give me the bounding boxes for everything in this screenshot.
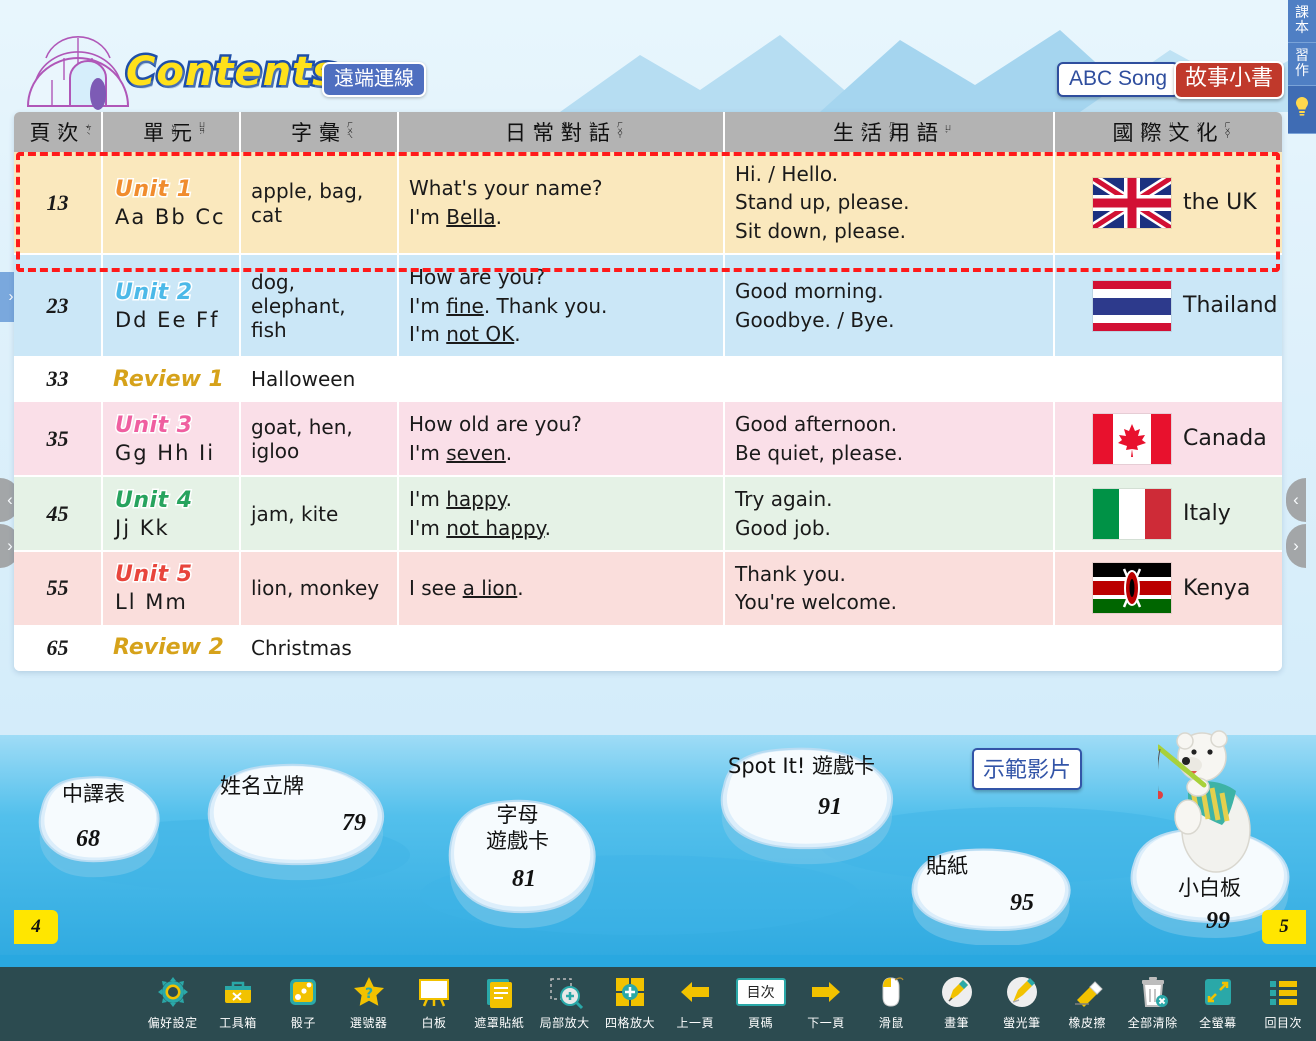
ice-floe-stickers[interactable]: 貼紙95 (900, 840, 1085, 945)
gear-icon[interactable] (140, 972, 205, 1012)
toolbar-item-trash-clear[interactable]: 全部清除 (1120, 967, 1185, 1031)
table-row[interactable]: 45Unit 4Jj Kkjam, kiteI'm happy.I'm not … (14, 476, 1282, 551)
toolbar-item-label: 螢光筆 (989, 1014, 1054, 1031)
row-page-number: 23 (14, 254, 102, 357)
toolbar-item-mouse[interactable]: 滑鼠 (859, 967, 924, 1031)
table-row[interactable]: 65Review 2Christmas (14, 626, 1282, 670)
toolbar-item-pen[interactable]: 畫筆 (924, 967, 989, 1031)
header-char: 常ㄔ ㄤ ´ (533, 117, 561, 147)
toolbar-item-eraser[interactable]: 橡皮擦 (1055, 967, 1120, 1031)
row-dialogue: I'm happy.I'm not happy. (398, 476, 724, 551)
pen-icon[interactable] (924, 972, 989, 1012)
header-char: 對ㄉ ㄨ ㄟ (561, 117, 589, 147)
toolbar-item-label: 偏好設定 (140, 1014, 205, 1031)
row-vocabulary: jam, kite (240, 476, 398, 551)
bopomofo-annotation: ㄩ ˅ (945, 126, 951, 137)
ice-floe-alphabet-game-card[interactable]: 字母遊戲卡81 (428, 790, 618, 935)
toolbar-item-gear[interactable]: 偏好設定 (140, 967, 205, 1031)
row-life-language: Good afternoon.Be quiet, please. (724, 401, 1054, 476)
row-review-topic: Christmas (240, 626, 1282, 670)
header-char: 日ㄖ 丶 (505, 117, 533, 147)
toolbar-item-label: 滑鼠 (859, 1014, 924, 1031)
header-char: 活ㄏ ㄨ ㄛ (861, 117, 889, 147)
row-vocabulary: lion, monkey (240, 551, 398, 626)
row-page-number: 45 (14, 476, 102, 551)
toolbar-item-highlighter[interactable]: 螢光筆 (989, 967, 1054, 1031)
row-dialogue: I see a lion. (398, 551, 724, 626)
toolbar-item-label: 骰子 (271, 1014, 336, 1031)
toolbar-item-list-contents[interactable]: 回目次 (1251, 967, 1316, 1031)
table-header-3: 字ㄗ 丶彙ㄏ ㄨ ㄟ (240, 112, 398, 152)
floe-page-number: 79 (342, 810, 366, 837)
table-row[interactable]: 13Unit 1Aa Bb Ccapple, bag, catWhat's yo… (14, 152, 1282, 254)
sidebar-item-workbook[interactable]: 習作 (1288, 43, 1316, 86)
toolbar-item-label: 白板 (401, 1014, 466, 1031)
row-page-number: 55 (14, 551, 102, 626)
header-char: 化ㄏ ㄨ ㄚ (1197, 117, 1225, 147)
floe-label: 姓名立牌 (220, 770, 304, 800)
contents-table: 頁ㄧ ㄝ 丶次ㄘ 丶單ㄉ ㄢ元ㄩ ㄢ ´字ㄗ 丶彙ㄏ ㄨ ㄟ日ㄖ 丶常ㄔ ㄤ ´… (14, 112, 1282, 671)
toolbar-item-whiteboard[interactable]: 白板 (401, 967, 466, 1031)
header-char: 次ㄘ 丶 (58, 117, 86, 147)
table-header-2: 單ㄉ ㄢ元ㄩ ㄢ ´ (102, 112, 240, 152)
demo-video-button[interactable]: 示範影片 (972, 748, 1082, 790)
toolbar-item-label: 局部放大 (532, 1014, 597, 1031)
page-code-icon[interactable]: 目次 (728, 972, 793, 1012)
toolbar-item-label: 工具箱 (205, 1014, 270, 1031)
arrow-left-icon[interactable] (663, 972, 728, 1012)
row-dialogue: How are you?I'm fine. Thank you.I'm not … (398, 254, 724, 357)
row-vocabulary: dog, elephant, fish (240, 254, 398, 357)
row-culture: Italy (1054, 476, 1282, 551)
page-badge-left: 4 (14, 910, 58, 944)
page-badge-right: 5 (1262, 910, 1306, 944)
toolbar-item-star-question[interactable]: ?選號器 (336, 967, 401, 1031)
header-char: 彙ㄏ ㄨ ㄟ (319, 117, 347, 147)
right-sidebar: 課本 習作 (1288, 0, 1316, 134)
table-header-5: 生ㄕ ㄥ活ㄏ ㄨ ㄛ用ㄩ ㄥ語ㄩ ˅ (724, 112, 1054, 152)
row-life-language: Try again.Good job. (724, 476, 1054, 551)
contents-table-container: 頁ㄧ ㄝ 丶次ㄘ 丶單ㄉ ㄢ元ㄩ ㄢ ´字ㄗ 丶彙ㄏ ㄨ ㄟ日ㄖ 丶常ㄔ ㄤ ´… (14, 112, 1282, 671)
floe-page-number: 91 (818, 794, 842, 821)
sidebar-item-textbook[interactable]: 課本 (1288, 0, 1316, 43)
page-title: Contents (126, 49, 337, 95)
lightbulb-icon[interactable] (1288, 86, 1316, 133)
row-culture: Canada (1054, 401, 1282, 476)
ice-floe-chinese-translation[interactable]: 中譯表68 (24, 768, 194, 893)
row-page-number: 33 (14, 357, 102, 401)
table-header-4: 日ㄖ 丶常ㄔ ㄤ ´對ㄉ ㄨ ㄟ話ㄏ ㄨ ㄚ (398, 112, 724, 152)
row-review-name: Review 1 (102, 357, 240, 401)
toolbar-item-label: 四格放大 (597, 1014, 662, 1031)
header-char: 生ㄕ ㄥ (833, 117, 861, 147)
row-life-language: Hi. / Hello.Stand up, please.Sit down, p… (724, 152, 1054, 254)
row-vocabulary: goat, hen, igloo (240, 401, 398, 476)
table-row[interactable]: 23Unit 2Dd Ee Ffdog, elephant, fishHow a… (14, 254, 1282, 357)
trash-clear-icon[interactable] (1120, 972, 1185, 1012)
eraser-icon[interactable] (1055, 972, 1120, 1012)
row-dialogue: What's your name?I'm Bella. (398, 152, 724, 254)
four-grid-zoom-icon[interactable] (597, 972, 662, 1012)
toolbar-item-mask-sticker[interactable]: 遮罩貼紙 (467, 967, 532, 1031)
table-row[interactable]: 55Unit 5Ll Mmlion, monkeyI see a lion.Th… (14, 551, 1282, 626)
ice-floe-name-plate[interactable]: 姓名立牌79 (198, 758, 418, 888)
row-unit: Unit 1Aa Bb Cc (102, 152, 240, 254)
ice-floe-spot-it-game-card[interactable]: Spot It! 遊戲卡91 (714, 742, 929, 867)
floe-page-number: 68 (76, 826, 100, 853)
floe-label: 貼紙 (926, 850, 968, 880)
toolbar-item-label: 全部清除 (1120, 1014, 1185, 1031)
table-body: 13Unit 1Aa Bb Ccapple, bag, catWhat's yo… (14, 152, 1282, 670)
row-page-number: 65 (14, 626, 102, 670)
toolbar-item-label: 選號器 (336, 1014, 401, 1031)
row-unit: Unit 2Dd Ee Ff (102, 254, 240, 357)
header-char: 際ㄐ ㄧ 丶 (1141, 117, 1169, 147)
header-char: 單ㄉ ㄢ (143, 117, 171, 147)
header-char: 字ㄗ 丶 (291, 117, 319, 147)
toolbar-item-label: 回目次 (1251, 1014, 1316, 1031)
header-char: 頁ㄧ ㄝ 丶 (30, 117, 58, 147)
floe-page-number: 81 (512, 866, 536, 893)
row-review-name: Review 2 (102, 626, 240, 670)
dice-icon[interactable] (271, 972, 336, 1012)
bottom-toolbar: 偏好設定工具箱骰子?選號器白板遮罩貼紙局部放大四格放大上一頁目次頁碼下一頁滑鼠畫… (0, 967, 1316, 1041)
header-char: 元ㄩ ㄢ ´ (171, 117, 199, 147)
country-name: Italy (1183, 501, 1231, 526)
row-review-topic: Halloween (240, 357, 1282, 401)
header-char: 用ㄩ ㄥ (889, 117, 917, 147)
story-book-button[interactable]: 故事小書 (1174, 61, 1284, 99)
bopomofo-annotation: ㄏ ㄨ ㄚ (617, 123, 623, 140)
floe-label: Spot It! 遊戲卡 (728, 750, 875, 780)
row-culture: Thailand (1054, 254, 1282, 357)
toolbar-item-label: 下一頁 (793, 1014, 858, 1031)
row-unit: Unit 3Gg Hh Ii (102, 401, 240, 476)
toolbar-item-dice[interactable]: 骰子 (271, 967, 336, 1031)
remote-connection-button[interactable]: 遠端連線 (322, 62, 426, 97)
header-char: 國ㄍ ㄨ ㄛ (1113, 117, 1141, 147)
bopomofo-annotation: ㄏ ㄨ ㄟ (347, 123, 353, 140)
header-char: 文ㄨ ㄣ ´ (1169, 117, 1197, 147)
magnifier-icon[interactable] (532, 972, 597, 1012)
toolbar-item-arrow-left[interactable]: 上一頁 (663, 967, 728, 1031)
highlighter-icon[interactable] (989, 972, 1054, 1012)
header-char: 語ㄩ ˅ (917, 117, 945, 147)
igloo-icon (22, 14, 134, 118)
floe-page-number: 95 (1010, 890, 1034, 917)
bopomofo-annotation: ㄏ ㄨ ㄚ (1225, 123, 1231, 140)
arrow-right-icon[interactable] (793, 972, 858, 1012)
toolbar-item-label: 遮罩貼紙 (467, 1014, 532, 1031)
table-header-1: 頁ㄧ ㄝ 丶次ㄘ 丶 (14, 112, 102, 152)
table-header-row: 頁ㄧ ㄝ 丶次ㄘ 丶單ㄉ ㄢ元ㄩ ㄢ ´字ㄗ 丶彙ㄏ ㄨ ㄟ日ㄖ 丶常ㄔ ㄤ ´… (14, 112, 1282, 152)
table-header-6: 國ㄍ ㄨ ㄛ際ㄐ ㄧ 丶文ㄨ ㄣ ´化ㄏ ㄨ ㄚ (1054, 112, 1282, 152)
toolbar-item-toolbox[interactable]: 工具箱 (205, 967, 270, 1031)
header-char: 話ㄏ ㄨ ㄚ (589, 117, 617, 147)
toolbar-item-fullscreen[interactable]: 全螢幕 (1185, 967, 1250, 1031)
bopomofo-annotation: ㄩ ㄢ ´ (199, 123, 205, 140)
fullscreen-icon[interactable] (1185, 972, 1250, 1012)
row-life-language: Good morning.Goodbye. / Bye. (724, 254, 1054, 357)
row-page-number: 13 (14, 152, 102, 254)
abc-song-button[interactable]: ABC Song (1057, 62, 1179, 97)
bottom-strip (0, 955, 1316, 967)
row-life-language: Thank you.You're welcome. (724, 551, 1054, 626)
star-question-icon[interactable]: ? (336, 972, 401, 1012)
toolbox-icon[interactable] (205, 972, 270, 1012)
country-name: Kenya (1183, 576, 1250, 601)
toolbar-item-label: 全螢幕 (1185, 1014, 1250, 1031)
floe-label: 小白板 (1178, 872, 1241, 902)
toolbar-item-label: 橡皮擦 (1055, 1014, 1120, 1031)
row-unit: Unit 5Ll Mm (102, 551, 240, 626)
floe-label: 中譯表 (62, 778, 125, 808)
row-vocabulary: apple, bag, cat (240, 152, 398, 254)
svg-text:?: ? (365, 986, 373, 1002)
row-culture: Kenya (1054, 551, 1282, 626)
page-root: Contents 遠端連線 ABC Song 故事小書 課本 習作 › ‹ › … (0, 0, 1316, 1041)
toolbar-item-arrow-right[interactable]: 下一頁 (793, 967, 858, 1031)
toolbar-item-page-code[interactable]: 目次頁碼 (728, 967, 793, 1031)
toolbar-item-label: 上一頁 (663, 1014, 728, 1031)
list-contents-icon[interactable] (1251, 972, 1316, 1012)
table-row[interactable]: 33Review 1Halloween (14, 357, 1282, 401)
polar-bear-illustration (1158, 725, 1268, 875)
floe-page-number: 99 (1206, 908, 1230, 935)
row-page-number: 35 (14, 401, 102, 476)
toolbar-item-magnifier[interactable]: 局部放大 (532, 967, 597, 1031)
toolbar-item-label: 畫筆 (924, 1014, 989, 1031)
toolbar-item-label: 頁碼 (728, 1014, 793, 1031)
row-unit: Unit 4Jj Kk (102, 476, 240, 551)
floe-label: 字母遊戲卡 (486, 802, 549, 855)
country-name: Canada (1183, 426, 1267, 451)
row-dialogue: How old are you?I'm seven. (398, 401, 724, 476)
row-culture: the UK (1054, 152, 1282, 254)
country-name: the UK (1183, 190, 1257, 215)
table-row[interactable]: 35Unit 3Gg Hh Iigoat, hen, iglooHow old … (14, 401, 1282, 476)
bopomofo-annotation: ㄘ 丶 (86, 126, 92, 137)
mask-sticker-icon[interactable] (467, 972, 532, 1012)
toolbar-item-four-grid-zoom[interactable]: 四格放大 (597, 967, 662, 1031)
whiteboard-icon[interactable] (401, 972, 466, 1012)
country-name: Thailand (1183, 293, 1277, 318)
mouse-icon[interactable] (859, 972, 924, 1012)
